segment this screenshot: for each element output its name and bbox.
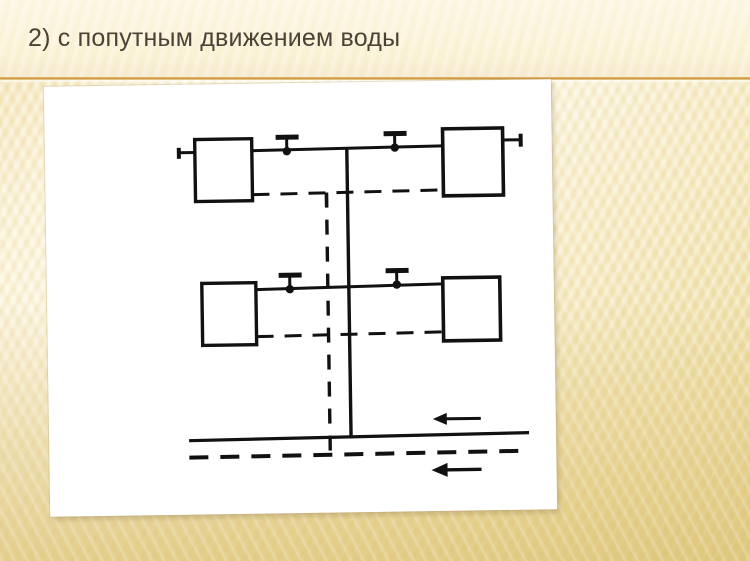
unit-top-left-left-cap <box>179 148 195 159</box>
valve-top-left <box>276 137 299 156</box>
main-return-line <box>189 451 529 458</box>
arrow-supply-flow-icon <box>433 412 481 425</box>
diagram-panel-surface <box>44 79 557 516</box>
riser-return <box>326 193 330 455</box>
main-supply-line <box>189 433 529 441</box>
unit-top-right <box>443 128 504 196</box>
slide-canvas: 2) с попутным движением воды <box>0 0 750 561</box>
unit-bottom-right <box>443 277 501 341</box>
diagram-panel <box>44 79 557 516</box>
piping-schematic-svg <box>44 79 557 516</box>
slide-title: 2) с попутным движением воды <box>28 22 400 54</box>
unit-top-left <box>195 139 253 202</box>
arrow-return-flow-icon <box>431 462 481 477</box>
valve-top-right <box>384 133 407 152</box>
valve-bottom-left <box>279 275 302 294</box>
unit-top-right-right-cap <box>503 134 521 147</box>
unit-bottom-left <box>202 283 257 346</box>
